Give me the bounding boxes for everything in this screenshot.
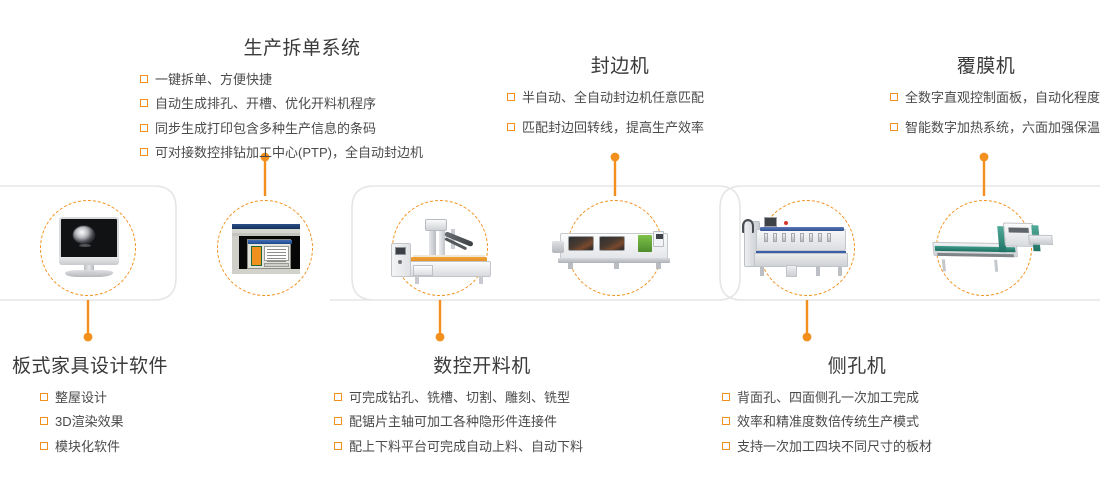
list-item: 配上下料平台可完成自动上料、自动下料 [334,438,642,456]
checkbox-icon [722,417,730,425]
list-item-label: 背面孔、四面侧孔一次加工完成 [737,389,919,407]
list-item: 背面孔、四面侧孔一次加工完成 [722,389,1012,407]
checkbox-icon [334,417,342,425]
list-item: 可对接数控排钻加工中心(PTP)，全自动封边机 [140,144,482,162]
list-item: 一键拆单、方便快捷 [140,71,482,89]
connector-design-software [84,300,93,341]
bullet-list: 背面孔、四面侧孔一次加工完成 效率和精准度数倍传统生产模式 支持一次加工四块不同… [702,389,1012,456]
list-item-label: 效率和精准度数倍传统生产模式 [737,413,919,431]
bullet-list: 半自动、全自动封边机任意匹配 匹配封边回转线，提高生产效率 [495,89,745,137]
checkbox-icon [40,417,48,425]
list-item-label: 智能数字加热系统，六面加强保温 [905,119,1100,137]
group-design-software-text: 板式家具设计软件 整屋设计 3D渲染效果 模块化软件 [12,356,302,455]
checkbox-icon [890,123,898,131]
node-edge-banding[interactable] [567,200,663,296]
node-side-hole[interactable] [759,200,855,296]
group-side-hole-text: 侧孔机 背面孔、四面侧孔一次加工完成 效率和精准度数倍传统生产模式 支持一次加工… [702,356,1012,455]
checkbox-icon [722,393,730,401]
list-item-label: 一键拆单、方便快捷 [155,71,272,89]
checkbox-icon [507,93,515,101]
list-item: 可完成钻孔、铣槽、切割、雕刻、铣型 [334,389,642,407]
checkbox-icon [140,75,148,83]
group-title: 封边机 [495,56,745,79]
imac-computer-image [51,217,127,279]
list-item: 配锯片主轴可加工各种隐形件连接件 [334,413,642,431]
checkbox-icon [140,99,148,107]
list-item-label: 配上下料平台可完成自动上料、自动下料 [349,438,583,456]
list-item: 支持一次加工四块不同尺寸的板材 [722,438,1012,456]
list-item: 效率和精准度数倍传统生产模式 [722,413,1012,431]
checkbox-icon [507,123,515,131]
checkbox-icon [40,442,48,450]
checkbox-icon [140,148,148,156]
node-design-software[interactable] [40,200,136,296]
connector-edge-banding [611,153,620,196]
connector-side-hole [803,300,812,341]
checkbox-icon [890,93,898,101]
group-order-splitting-text: 生产拆单系统 一键拆单、方便快捷 自动生成排孔、开槽、优化开料机程序 同步生成打… [122,38,482,162]
bullet-list: 全数字直观控制面板，自动化程度高 智能数字加热系统，六面加强保温 [880,89,1100,137]
list-item-label: 自动生成排孔、开槽、优化开料机程序 [155,95,376,113]
list-item: 同步生成打印包含多种生产信息的条码 [140,120,482,138]
list-item: 匹配封边回转线，提高生产效率 [507,119,745,137]
list-item-label: 匹配封边回转线，提高生产效率 [522,119,704,137]
list-item-label: 整屋设计 [55,389,107,407]
connector-laminating [980,153,989,196]
checkbox-icon [334,442,342,450]
list-item-label: 全数字直观控制面板，自动化程度高 [905,89,1100,107]
list-item: 全数字直观控制面板，自动化程度高 [890,89,1100,107]
edge-banding-machine-image [552,227,678,271]
group-title: 板式家具设计软件 [12,356,302,379]
group-edge-banding-text: 封边机 半自动、全自动封边机任意匹配 匹配封边回转线，提高生产效率 [495,56,745,137]
infographic-canvas: 生产拆单系统 一键拆单、方便快捷 自动生成排孔、开槽、优化开料机程序 同步生成打… [0,0,1100,495]
node-laminating[interactable] [936,200,1032,296]
list-item: 整屋设计 [40,389,302,407]
side-hole-drilling-machine-image [742,215,852,279]
group-title: 数控开料机 [322,356,642,379]
list-item: 半自动、全自动封边机任意匹配 [507,89,745,107]
bullet-list: 一键拆单、方便快捷 自动生成排孔、开槽、优化开料机程序 同步生成打印包含多种生产… [122,71,482,162]
group-laminating-text: 覆膜机 全数字直观控制面板，自动化程度高 智能数字加热系统，六面加强保温 [880,56,1100,137]
list-item: 智能数字加热系统，六面加强保温 [890,119,1100,137]
connector-cnc-cutting [436,300,445,341]
laminating-machine-image [931,214,1055,280]
checkbox-icon [40,393,48,401]
list-item: 自动生成排孔、开槽、优化开料机程序 [140,95,482,113]
checkbox-icon [334,393,342,401]
node-order-splitting[interactable] [217,200,313,296]
list-item: 3D渲染效果 [40,413,302,431]
list-item-label: 3D渲染效果 [55,413,124,431]
group-cnc-cutting-text: 数控开料机 可完成钻孔、铣槽、切割、雕刻、铣型 配锯片主轴可加工各种隐形件连接件… [322,356,642,455]
bullet-list: 整屋设计 3D渲染效果 模块化软件 [12,389,302,456]
list-item-label: 模块化软件 [55,438,120,456]
node-cnc-cutting[interactable] [392,200,488,296]
list-item-label: 同步生成打印包含多种生产信息的条码 [155,120,376,138]
list-item-label: 配锯片主轴可加工各种隐形件连接件 [349,413,557,431]
list-item-label: 可完成钻孔、铣槽、切割、雕刻、铣型 [349,389,570,407]
list-item-label: 可对接数控排钻加工中心(PTP)，全自动封边机 [155,144,423,162]
checkbox-icon [722,442,730,450]
list-item-label: 支持一次加工四块不同尺寸的板材 [737,438,932,456]
group-title: 生产拆单系统 [122,38,482,61]
cnc-router-machine-image [391,215,495,289]
group-title: 覆膜机 [880,56,1100,79]
group-title: 侧孔机 [702,356,1012,379]
checkbox-icon [140,124,148,132]
list-item-label: 半自动、全自动封边机任意匹配 [522,89,704,107]
bullet-list: 可完成钻孔、铣槽、切割、雕刻、铣型 配锯片主轴可加工各种隐形件连接件 配上下料平… [322,389,642,456]
cad-software-screenshot-image [232,224,300,274]
list-item: 模块化软件 [40,438,302,456]
